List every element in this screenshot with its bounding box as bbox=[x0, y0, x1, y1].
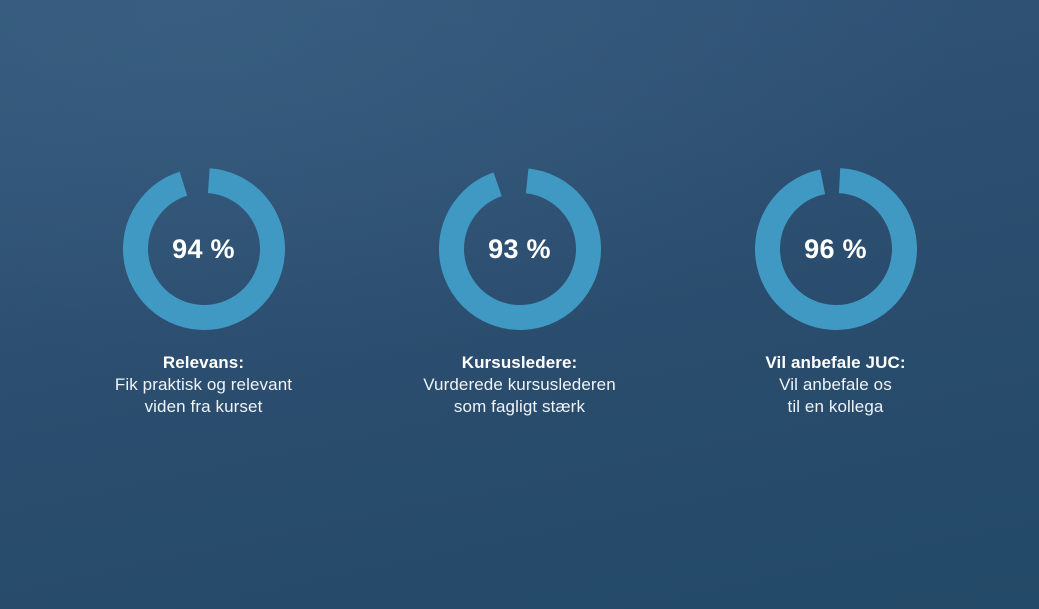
stat-title-kursusledere: Kursusledere: bbox=[423, 352, 616, 374]
infographic-canvas: 94 % Relevans: Fik praktisk og relevant … bbox=[0, 0, 1039, 609]
stat-title-relevans: Relevans: bbox=[115, 352, 292, 374]
stat-desc-line2-relevans: viden fra kurset bbox=[115, 396, 292, 418]
donut-value-kursusledere: 93 % bbox=[439, 168, 601, 330]
donut-chart-relevans: 94 % bbox=[123, 168, 285, 330]
stat-desc-line2-anbefale-juc: til en kollega bbox=[765, 396, 905, 418]
donut-value-anbefale-juc: 96 % bbox=[755, 168, 917, 330]
stat-card-kursusledere: 93 % Kursusledere: Vurderede kursusleder… bbox=[362, 168, 678, 417]
donut-value-relevans: 94 % bbox=[123, 168, 285, 330]
donut-stats-row: 94 % Relevans: Fik praktisk og relevant … bbox=[0, 168, 1039, 417]
stat-desc-line1-anbefale-juc: Vil anbefale os bbox=[765, 374, 905, 396]
stat-caption-anbefale-juc: Vil anbefale JUC: Vil anbefale os til en… bbox=[765, 352, 905, 417]
donut-chart-anbefale-juc: 96 % bbox=[755, 168, 917, 330]
stat-title-anbefale-juc: Vil anbefale JUC: bbox=[765, 352, 905, 374]
stat-desc-line1-relevans: Fik praktisk og relevant bbox=[115, 374, 292, 396]
stat-card-relevans: 94 % Relevans: Fik praktisk og relevant … bbox=[46, 168, 362, 417]
stat-desc-line1-kursusledere: Vurderede kursuslederen bbox=[423, 374, 616, 396]
donut-chart-kursusledere: 93 % bbox=[439, 168, 601, 330]
stat-caption-kursusledere: Kursusledere: Vurderede kursuslederen so… bbox=[423, 352, 616, 417]
stat-caption-relevans: Relevans: Fik praktisk og relevant viden… bbox=[115, 352, 292, 417]
stat-desc-line2-kursusledere: som fagligt stærk bbox=[423, 396, 616, 418]
stat-card-anbefale-juc: 96 % Vil anbefale JUC: Vil anbefale os t… bbox=[678, 168, 994, 417]
